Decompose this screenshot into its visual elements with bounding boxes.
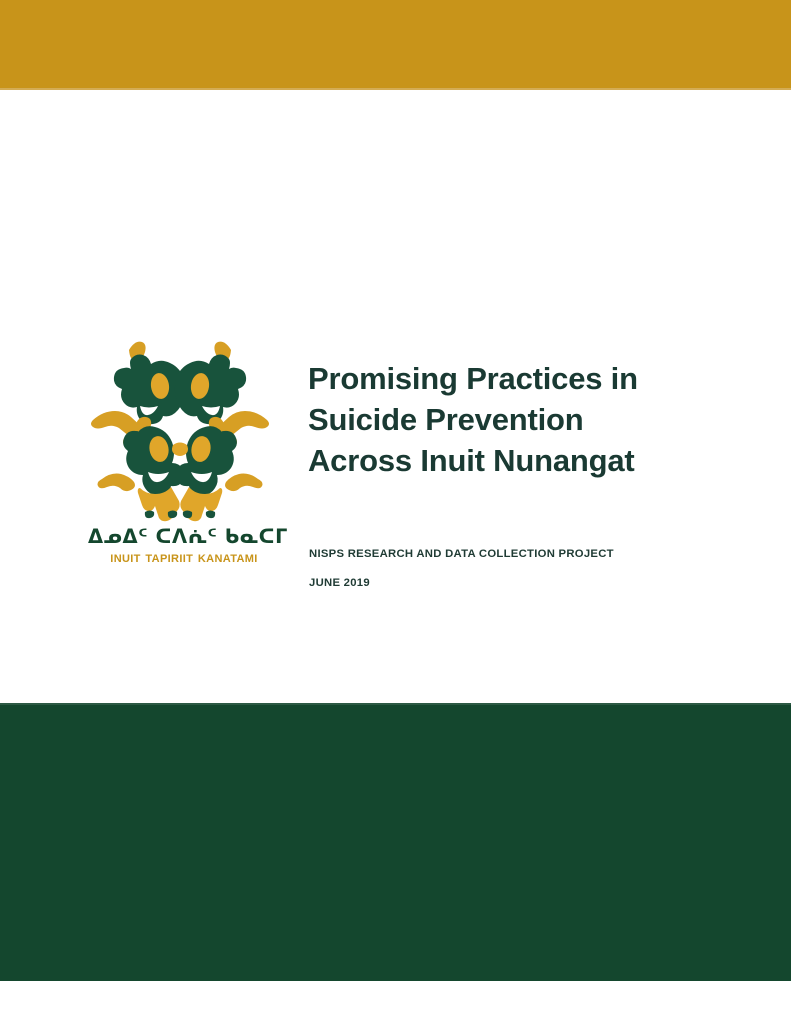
logo-latin-text: Inuit Tapiriit Kanatami: [88, 549, 280, 567]
page-title-line-1: Promising Practices in: [308, 358, 738, 399]
top-gold-band: [0, 0, 791, 88]
logo-block: ᐃᓄᐃᑦ ᑕᐱᕇᑦ ᑲᓇᑕᒥ Inuit Tapiriit Kanatami: [88, 336, 280, 567]
logo-syllabics-text: ᐃᓄᐃᑦ ᑕᐱᕇᑦ ᑲᓇᑕᒥ: [88, 526, 280, 548]
project-subtitle: NISPS RESEARCH AND DATA COLLECTION PROJE…: [309, 547, 739, 561]
bottom-green-band: [0, 705, 791, 981]
logo-wordmark: ᐃᓄᐃᑦ ᑕᐱᕇᑦ ᑲᓇᑕᒥ Inuit Tapiriit Kanatami: [88, 526, 280, 567]
document-meta: NISPS RESEARCH AND DATA COLLECTION PROJE…: [309, 547, 739, 561]
page-title: Promising Practices in Suicide Preventio…: [308, 358, 738, 481]
document-cover-page: ᐃᓄᐃᑦ ᑕᐱᕇᑦ ᑲᓇᑕᒥ Inuit Tapiriit Kanatami P…: [0, 0, 791, 1024]
page-title-line-2: Suicide Prevention: [308, 399, 738, 440]
publication-date: JUNE 2019: [309, 577, 370, 589]
page-title-line-3: Across Inuit Nunangat: [308, 440, 738, 481]
inuit-tapiriit-kanatami-logo-icon: [88, 336, 272, 524]
top-band-accent-line: [0, 88, 791, 90]
